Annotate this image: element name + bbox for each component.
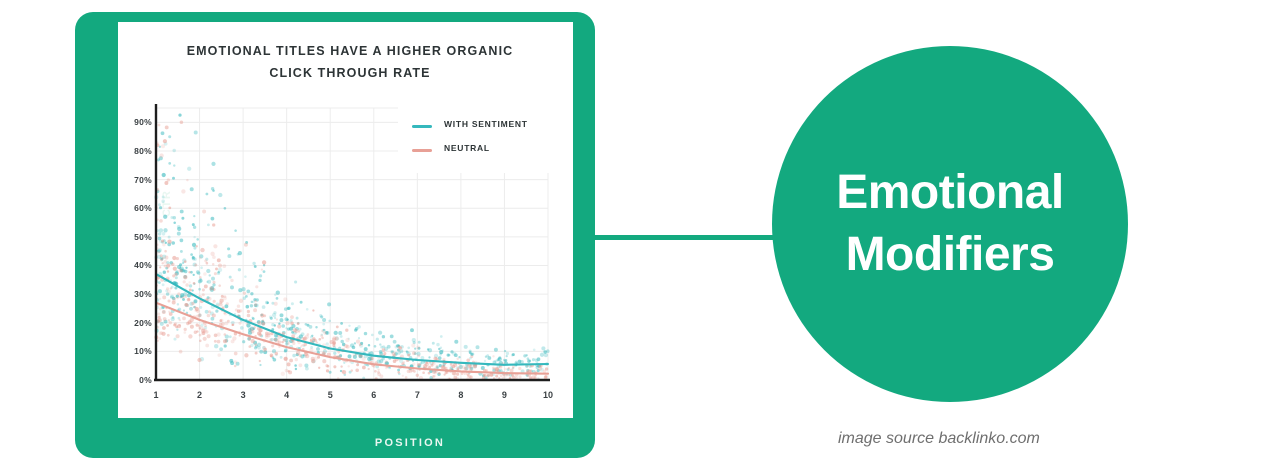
x-tick-label: 4	[277, 390, 297, 400]
legend-swatch-with-sentiment	[412, 125, 432, 128]
y-tick-label: 0%	[118, 375, 152, 385]
x-tick-label: 3	[233, 390, 253, 400]
x-tick-label: 2	[190, 390, 210, 400]
legend-label-neutral: NEUTRAL	[444, 143, 490, 153]
y-tick-label: 40%	[118, 260, 152, 270]
legend-swatch-neutral	[412, 149, 432, 152]
circle-text: Emotional Modifiers	[836, 162, 1064, 286]
x-axis-title: POSITION	[150, 437, 670, 449]
circle-text-line-1: Emotional	[836, 162, 1064, 224]
y-tick-label: 50%	[118, 232, 152, 242]
y-tick-label: 70%	[118, 175, 152, 185]
emotional-modifiers-circle: Emotional Modifiers	[772, 46, 1128, 402]
x-tick-label: 8	[451, 390, 471, 400]
y-tick-label: 30%	[118, 289, 152, 299]
image-source-attribution: image source backlinko.com	[838, 430, 1040, 448]
plot-area: 0%10%20%30%40%50%60%70%80%90% 1234567891…	[118, 22, 573, 418]
y-tick-label: 80%	[118, 146, 152, 156]
y-tick-label: 20%	[118, 318, 152, 328]
x-tick-label: 7	[407, 390, 427, 400]
x-tick-label: 1	[146, 390, 166, 400]
x-tick-label: 9	[494, 390, 514, 400]
x-tick-label: 6	[364, 390, 384, 400]
scatter-plot-svg	[118, 22, 573, 418]
legend-label-with-sentiment: WITH SENTIMENT	[444, 119, 528, 129]
chart-legend: WITH SENTIMENT NEUTRAL	[398, 105, 550, 173]
y-tick-label: 60%	[118, 203, 152, 213]
circle-text-line-2: Modifiers	[836, 224, 1064, 286]
y-tick-label: 10%	[118, 346, 152, 356]
x-tick-label: 5	[320, 390, 340, 400]
x-tick-label: 10	[538, 390, 558, 400]
connector-line	[594, 235, 780, 240]
y-tick-label: 90%	[118, 117, 152, 127]
